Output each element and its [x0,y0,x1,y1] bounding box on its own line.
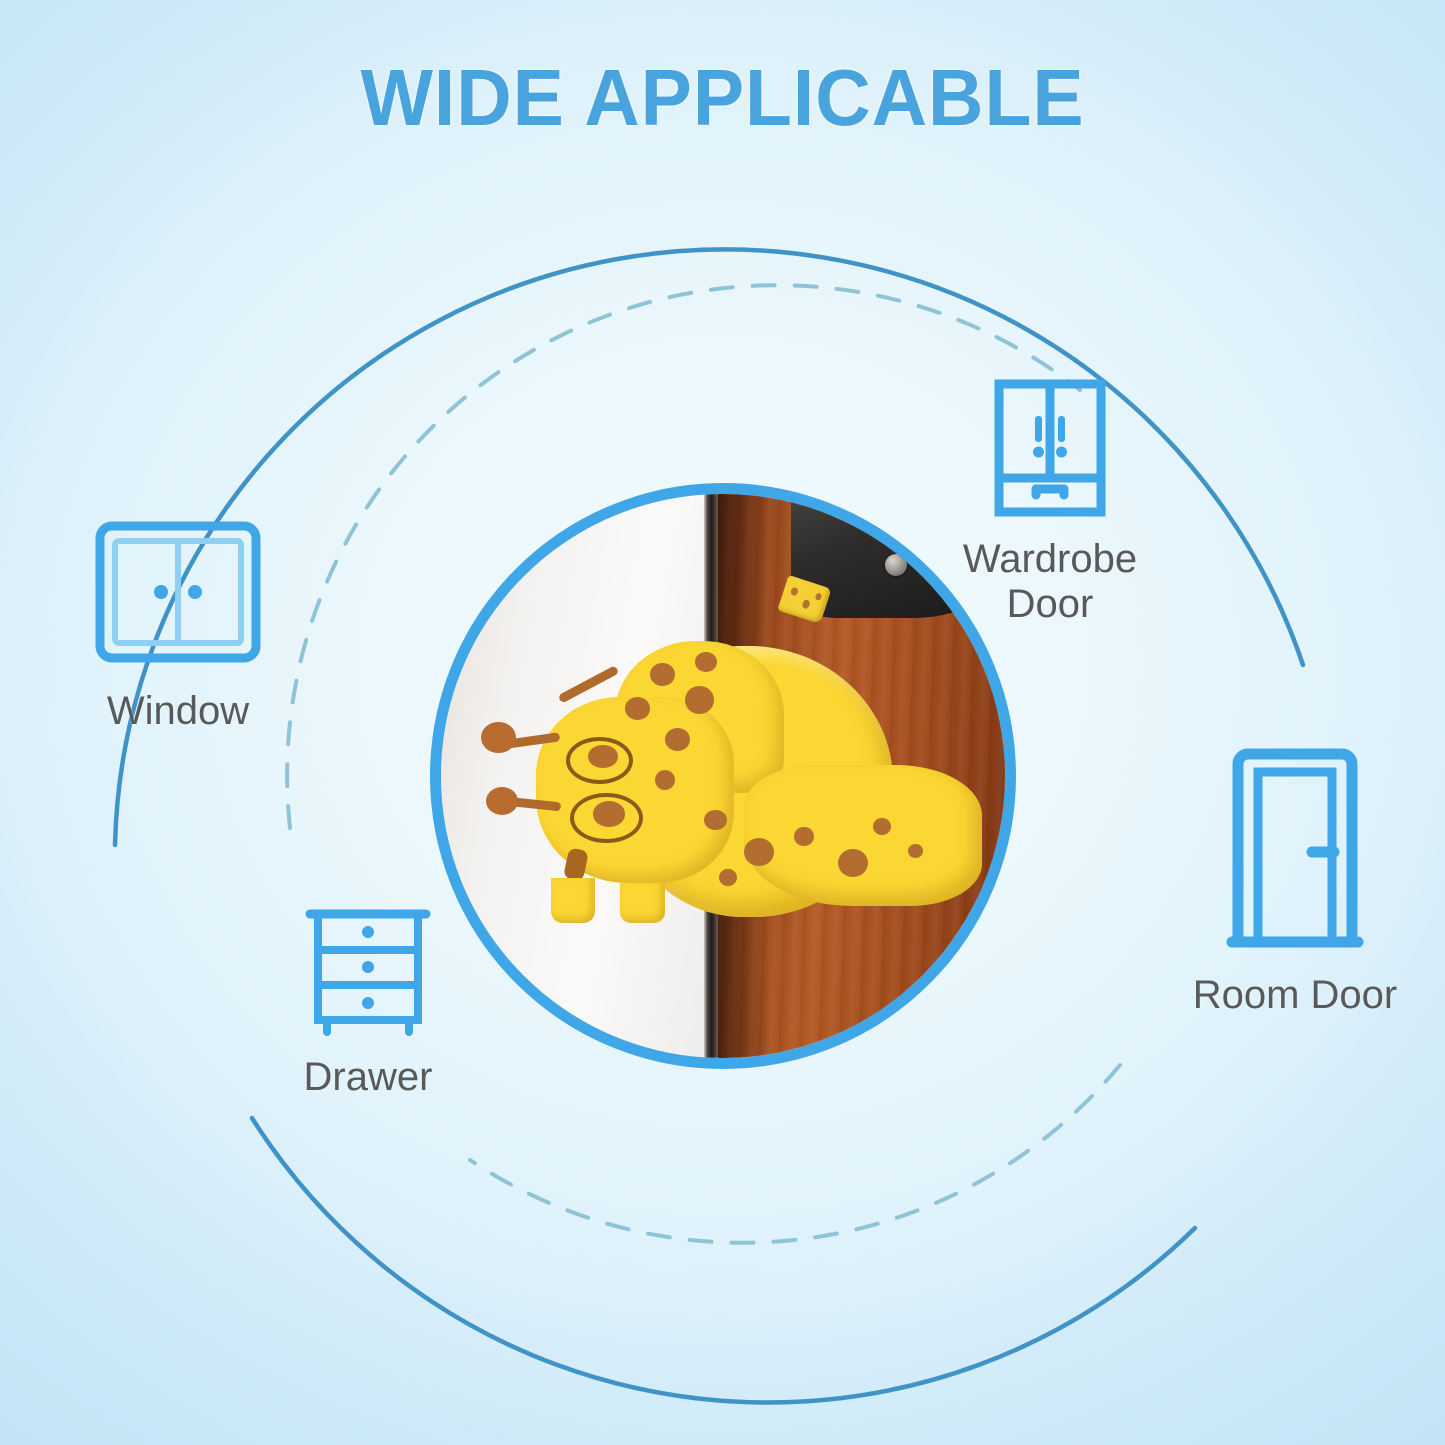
tab-spot [790,587,798,597]
giraffe-spot [704,810,726,830]
giraffe-spot [665,728,690,751]
giraffe-spot [794,827,814,847]
feature-wardrobe-door[interactable]: Wardrobe Door [900,378,1200,627]
feature-label-wardrobe-door: Wardrobe Door [900,537,1200,627]
giraffe-spot [655,770,675,790]
giraffe-spot [650,663,675,686]
inner-arc-lower [470,1065,1120,1243]
wardrobe-icon [900,378,1200,523]
window-icon [28,510,328,675]
giraffe-spot [873,818,890,835]
giraffe-spot [685,686,715,714]
feature-label-drawer: Drawer [218,1055,518,1100]
feature-label-room-door: Room Door [1140,973,1445,1018]
giraffe-leg [620,883,665,922]
giraffe-horn-tip [481,722,516,753]
feature-drawer[interactable]: Drawer [218,900,518,1100]
page-title: WIDE APPLICABLE [29,58,1416,138]
giraffe-leg [551,878,596,923]
giraffe-eye-pupil [593,801,625,826]
tab-spot [801,599,811,610]
giraffe-spot [744,838,774,866]
giraffe-spot [908,844,923,858]
feature-window[interactable]: Window [28,510,328,734]
giraffe-spot [625,697,650,720]
giraffe-horn-tip [486,787,518,815]
giraffe-spot [695,652,717,672]
tab-spot [815,593,822,602]
infographic-canvas: WIDE APPLICABLE [0,0,1445,1445]
giraffe-spot [719,869,736,886]
feature-label-window: Window [28,689,328,734]
stopper-notch [729,714,878,832]
outer-arc-bottom [252,1118,1195,1402]
giraffe-eye-pupil [588,745,618,768]
door-icon [1140,740,1445,959]
giraffe-head [536,697,735,883]
drawer-icon [218,900,518,1041]
feature-room-door[interactable]: Room Door [1140,740,1445,1018]
giraffe-door-stopper [486,641,982,923]
